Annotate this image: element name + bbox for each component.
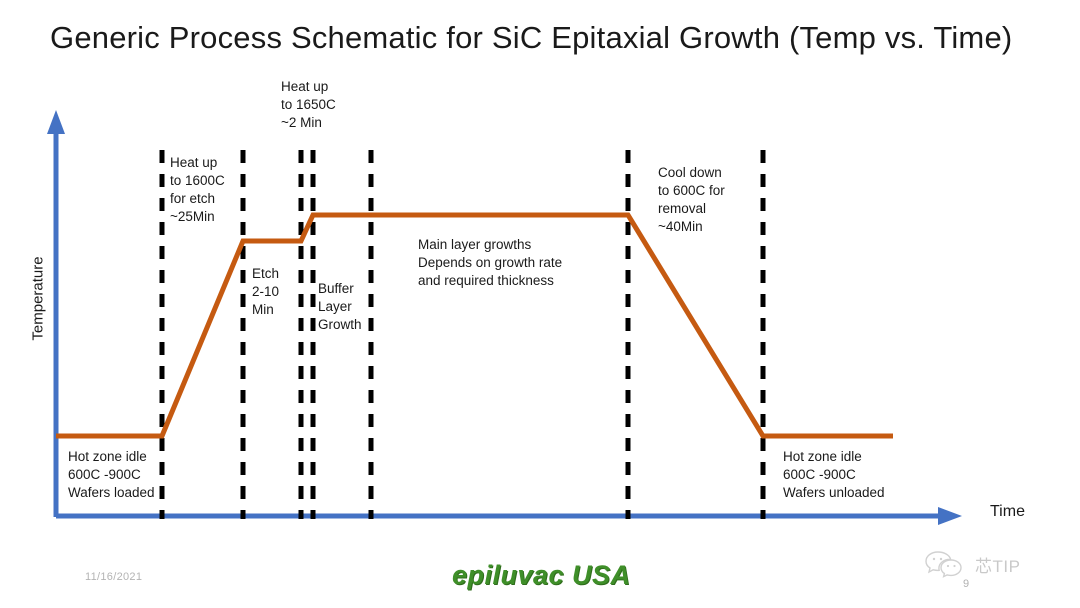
footer-date: 11/16/2021 xyxy=(85,571,142,583)
annotation-etch: Etch 2-10 Min xyxy=(252,265,279,319)
annotation-hot-zone-idle-end: Hot zone idle 600C -900C Wafers unloaded xyxy=(783,448,885,502)
watermark: 芯TIP xyxy=(925,549,1020,579)
x-axis xyxy=(56,507,962,525)
annotation-main-layer-growth: Main layer growths Depends on growth rat… xyxy=(418,236,562,290)
annotation-buffer-layer-growth: Buffer Layer Growth xyxy=(318,280,362,334)
y-axis-label: Temperature xyxy=(30,239,47,359)
y-axis xyxy=(47,110,65,517)
process-schematic-chart: Temperature Time xyxy=(0,0,1080,608)
watermark-label: 芯TIP xyxy=(975,552,1020,577)
annotation-heat-to-1600c: Heat up to 1600C for etch ~25Min xyxy=(170,154,225,226)
wechat-icon xyxy=(925,549,969,579)
chart-canvas xyxy=(0,0,1080,608)
annotation-heat-to-1650c: Heat up to 1650C ~2 Min xyxy=(281,78,336,132)
x-axis-label: Time xyxy=(990,503,1025,521)
page-number: 9 xyxy=(963,578,969,590)
slide: Generic Process Schematic for SiC Epitax… xyxy=(0,0,1080,608)
epiluvac-logo: epiluvac USA xyxy=(452,560,631,591)
annotation-hot-zone-idle-start: Hot zone idle 600C -900C Wafers loaded xyxy=(68,448,155,502)
annotation-cool-down: Cool down to 600C for removal ~40Min xyxy=(658,164,725,236)
